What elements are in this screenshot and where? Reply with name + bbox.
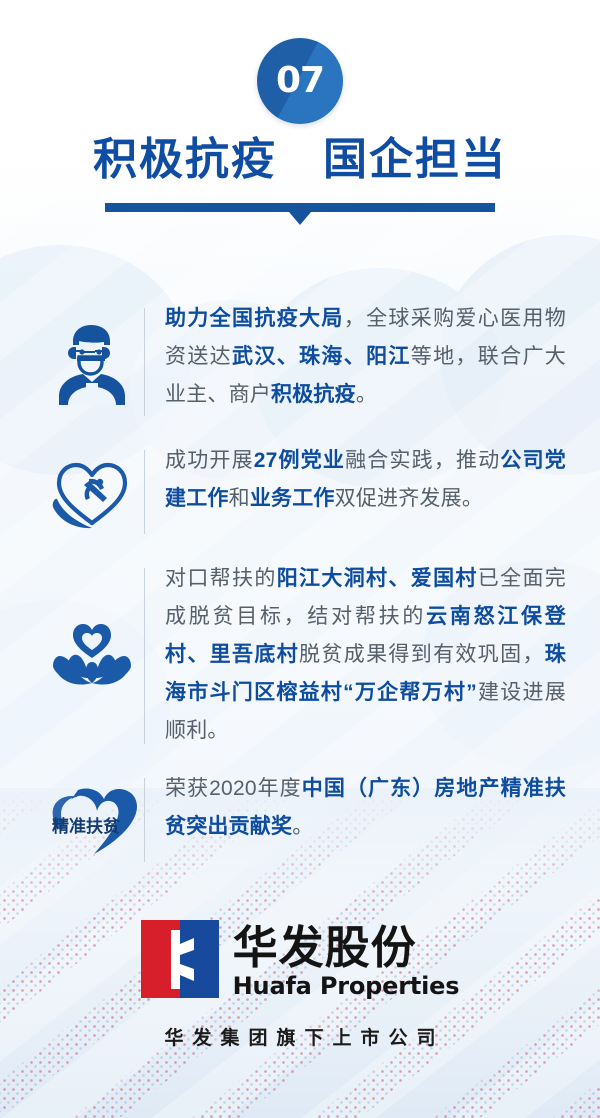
footer-tagline: 华发集团旗下上市公司 (0, 1023, 600, 1050)
body-text: 荣获2020年度 (165, 777, 302, 800)
emphasis-text: 业务工作 (250, 487, 335, 510)
block-paragraph: 对口帮扶的阳江大洞村、爱国村已全面完成脱贫目标，结对帮扶的云南怒江保登村、里吾底… (165, 558, 566, 750)
poverty-alleviation-heart-icon: 精准扶贫 (40, 784, 144, 856)
body-text: 对口帮扶的 (165, 567, 277, 590)
heart-in-hands-icon (40, 614, 144, 698)
medical-worker-icon (40, 319, 144, 405)
body-text: 。 (292, 815, 313, 838)
content-block: 成功开展27例党业融合实践，推动公司党建工作和业务工作双促进齐发展。 (0, 440, 600, 544)
body-text: 脱贫成果得到有效巩固， (299, 643, 545, 666)
block-paragraph: 助力全国抗疫大局，全球采购爱心医用物资送达武汉、珠海、阳江等地，联合广大业主、商… (165, 298, 566, 414)
logo-wordmark: 华发股份 Huafa Properties (233, 924, 460, 1000)
logo-name-en: Huafa Properties (233, 972, 460, 1000)
emphasis-text: 助力全国抗疫大局 (165, 307, 344, 330)
section-number-badge: 07 (257, 38, 343, 124)
poverty-alleviation-label: 精准扶贫 (52, 816, 121, 837)
emphasis-text: 武汉、珠海、阳江 (232, 345, 411, 368)
emphasis-text: 阳江大洞村、爱国村 (277, 567, 478, 590)
content-block: 对口帮扶的阳江大洞村、爱国村已全面完成脱贫目标，结对帮扶的云南怒江保登村、里吾底… (0, 558, 600, 754)
emphasis-text: 27例党业 (254, 449, 345, 472)
footer: 华发股份 Huafa Properties 华发集团旗下上市公司 (0, 920, 600, 1050)
body-text: 。 (356, 383, 377, 406)
content-block: 助力全国抗疫大局，全球采购爱心医用物资送达武汉、珠海、阳江等地，联合广大业主、商… (0, 298, 600, 426)
block-divider (144, 450, 145, 534)
huafa-logo-mark-icon (141, 920, 219, 1003)
logo-name-cn: 华发股份 (233, 924, 460, 972)
body-text: 成功开展 (165, 449, 254, 472)
body-text: 双促进齐发展。 (335, 487, 483, 510)
block-divider (144, 308, 145, 416)
body-text: 和 (229, 487, 250, 510)
title-underline-bar (105, 203, 495, 212)
poster-page: 07 积极抗疫 国企担当 (0, 0, 600, 1118)
block-paragraph: 成功开展27例党业融合实践，推动公司党建工作和业务工作双促进齐发展。 (165, 440, 566, 518)
party-heart-icon (40, 455, 144, 529)
title-underline (105, 203, 495, 225)
section-number: 07 (276, 63, 324, 99)
company-logo: 华发股份 Huafa Properties (0, 920, 600, 1003)
block-divider (144, 778, 145, 862)
content-block-list: 助力全国抗疫大局，全球采购爱心医用物资送达武汉、珠海、阳江等地，联合广大业主、商… (0, 298, 600, 886)
body-text: 融合实践，推动 (345, 449, 500, 472)
emphasis-text: 积极抗疫 (271, 383, 356, 406)
block-paragraph: 荣获2020年度中国（广东）房地产精准扶贫突出贡献奖。 (165, 768, 566, 846)
title-underline-pointer-icon (289, 212, 311, 225)
block-divider (144, 568, 145, 744)
page-title: 积极抗疫 国企担当 (0, 138, 600, 182)
content-block: 精准扶贫 荣获2020年度中国（广东）房地产精准扶贫突出贡献奖。 (0, 768, 600, 872)
